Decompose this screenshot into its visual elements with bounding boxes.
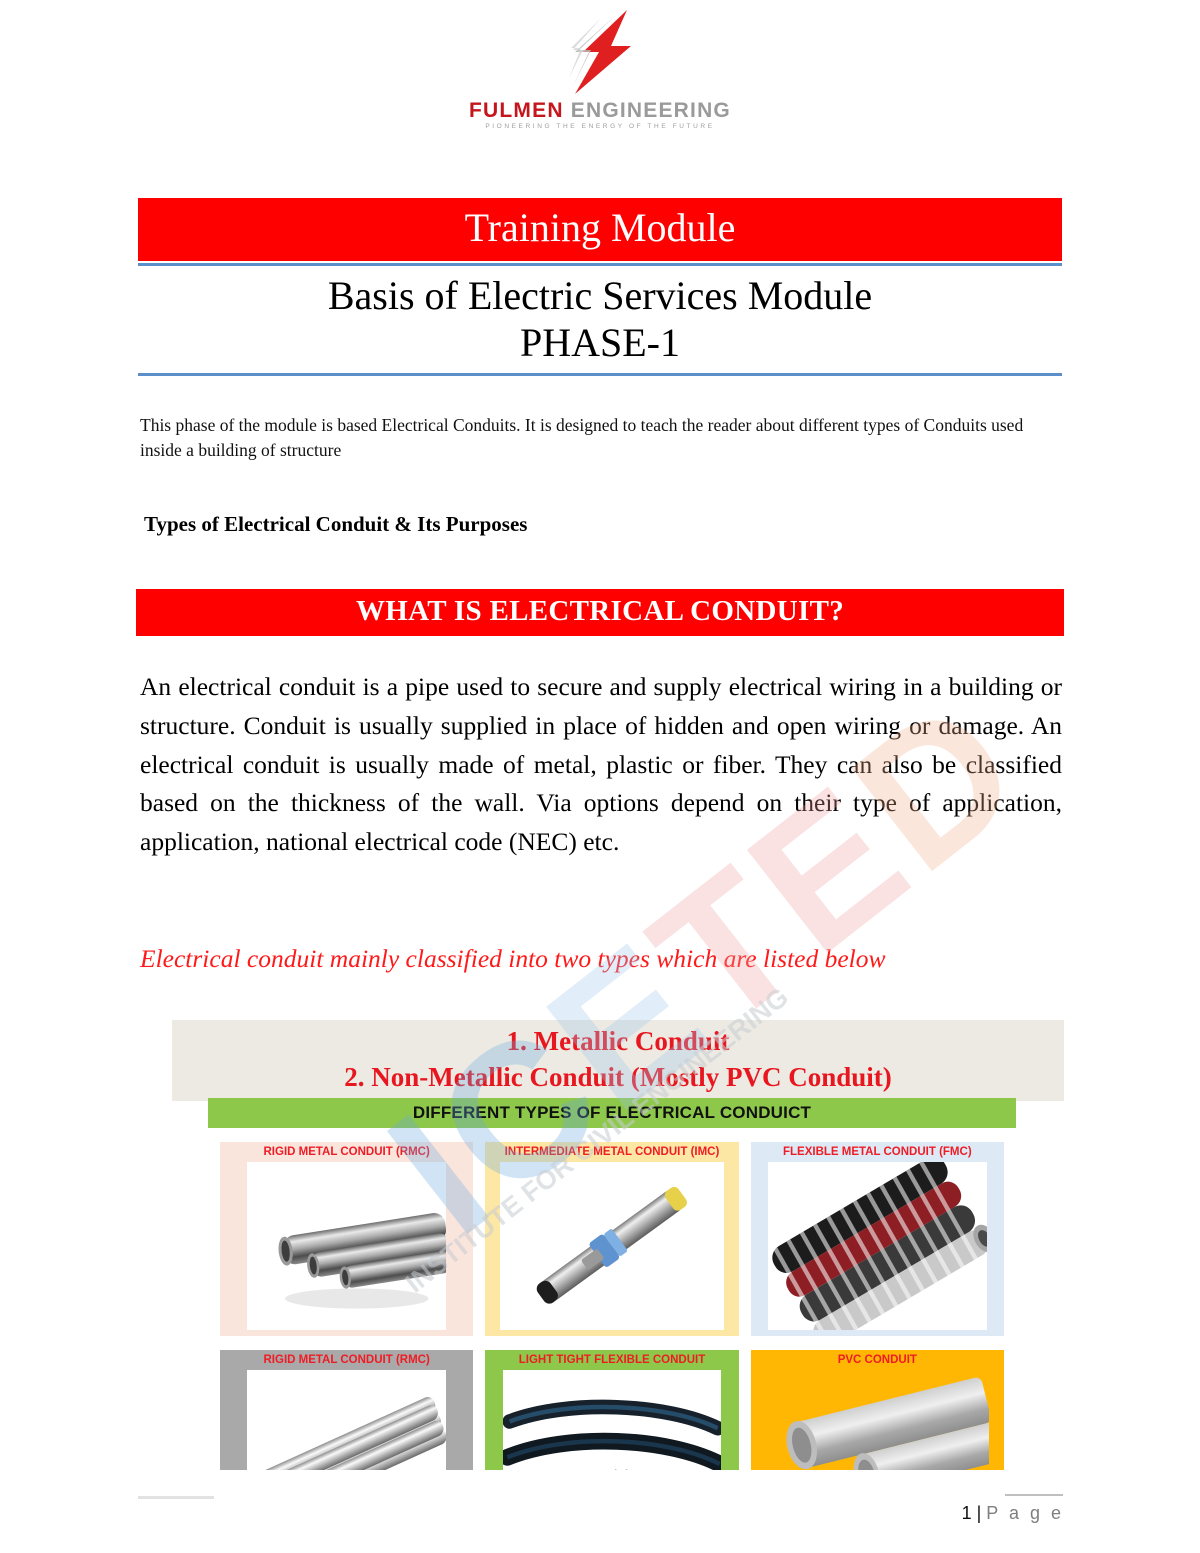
footer-rule-right (1005, 1494, 1063, 1496)
straight-metal-pipes-photo (247, 1162, 447, 1330)
footer-separator: | (973, 1503, 987, 1523)
list-item: 1. Metallic Conduit (172, 1024, 1064, 1060)
conduit-card-fmc: FLEXIBLE METAL CONDUIT (FMC) (751, 1142, 1004, 1336)
card-label: FLEXIBLE METAL CONDUIT (FMC) (783, 1146, 972, 1159)
conduit-card-rmc-1: RIGID METAL CONDUIT (RMC) (220, 1142, 473, 1336)
footer-page-word: P a g e (986, 1503, 1064, 1523)
logo-tagline: PIONEERING THE ENERGY OF THE FUTURE (0, 123, 1200, 130)
conduit-types-list: 1. Metallic Conduit 2. Non-Metallic Cond… (172, 1020, 1064, 1101)
logo-word-primary: FULMEN (469, 99, 564, 122)
footer-rule-left (138, 1496, 214, 1499)
conduit-card-pvc: PVC CONDUIT (751, 1350, 1004, 1470)
card-label: RIGID METAL CONDUIT (RMC) (264, 1146, 430, 1159)
figure-card-grid: RIGID METAL CONDUIT (RMC) (208, 1128, 1016, 1466)
card-label: INTERMEDIATE METAL CONDUIT (IMC) (505, 1146, 720, 1159)
logo-wordmark: FULMEN ENGINEERING (0, 100, 1200, 121)
black-flexible-hose-photo (503, 1370, 722, 1470)
conduit-card-light-tight: LIGHT TIGHT FLEXIBLE CONDUIT (485, 1350, 738, 1470)
conduit-types-figure: DIFFERENT TYPES OF ELECTRICAL CONDUICT R… (208, 1098, 1016, 1470)
lightning-bolt-icon (535, 8, 665, 96)
grey-pvc-pipes-photo (765, 1370, 989, 1470)
card-label: RIGID METAL CONDUIT (RMC) (264, 1354, 430, 1367)
bundled-metal-pipes-photo (247, 1370, 447, 1470)
figure-title: DIFFERENT TYPES OF ELECTRICAL CONDUICT (208, 1098, 1016, 1128)
intro-paragraph: This phase of the module is based Electr… (140, 413, 1040, 464)
page-number-footer: 1|P a g e (900, 1503, 1064, 1524)
body-paragraph: An electrical conduit is a pipe used to … (140, 668, 1062, 862)
red-banner-heading: WHAT IS ELECTRICAL CONDUIT? (136, 589, 1064, 636)
subtitle-line-1: Basis of Electric Services Module (328, 273, 872, 318)
conduit-card-rmc-2: RIGID METAL CONDUIT (RMC) (220, 1350, 473, 1470)
footer-page-number: 1 (962, 1503, 973, 1523)
list-item: 2. Non-Metallic Conduit (Mostly PVC Cond… (172, 1060, 1064, 1096)
card-label: PVC CONDUIT (838, 1354, 917, 1367)
document-subtitle: Basis of Electric Services Module PHASE-… (138, 266, 1062, 370)
single-imc-pipe-photo (500, 1162, 724, 1330)
subtitle-line-2: PHASE-1 (138, 319, 1062, 366)
document-title-block: Training Module Basis of Electric Servic… (138, 198, 1062, 376)
red-italic-lead: Electrical conduit mainly classified int… (140, 940, 1062, 979)
company-logo: FULMEN ENGINEERING PIONEERING THE ENERGY… (0, 8, 1200, 130)
card-label: LIGHT TIGHT FLEXIBLE CONDUIT (519, 1354, 706, 1367)
corrugated-flexible-conduits-photo (768, 1162, 987, 1330)
section-heading: Types of Electrical Conduit & Its Purpos… (144, 512, 1044, 537)
document-page: FULMEN ENGINEERING PIONEERING THE ENERGY… (0, 0, 1200, 1553)
title-rule-bottom (138, 373, 1062, 376)
conduit-card-imc: INTERMEDIATE METAL CONDUIT (IMC) (485, 1142, 738, 1336)
logo-word-secondary: ENGINEERING (571, 99, 731, 122)
title-banner: Training Module (138, 198, 1062, 261)
